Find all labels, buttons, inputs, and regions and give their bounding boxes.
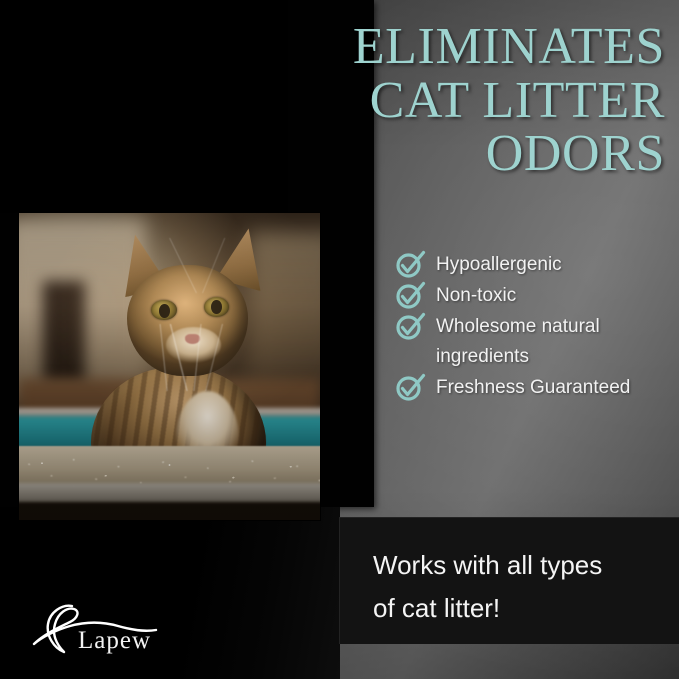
benefits-list: Hypoallergenic Non-toxic Wholesome natur… [392,250,672,404]
list-item-label: Hypoallergenic [436,250,562,280]
photo-color-grade [19,213,320,520]
headline: ELIMINATES CAT LITTER ODORS [245,20,665,181]
brand-logo: Lapew [26,600,186,662]
list-item: Hypoallergenic [392,250,672,280]
check-circle-icon [392,280,436,310]
headline-line-3: ODORS [245,127,665,181]
list-item: Non-toxic [392,281,672,311]
logo-wordmark: Lapew [78,627,151,655]
product-ad-image: ELIMINATES CAT LITTER ODORS [0,0,679,679]
check-circle-icon [392,249,436,279]
kitten-photo [19,213,320,520]
list-item-label: Freshness Guaranteed [436,373,630,403]
tagline-box: Works with all types of cat litter! [339,517,679,644]
check-circle-icon [392,311,436,341]
list-item-label: Wholesome natural ingredients [436,312,600,372]
headline-line-2: CAT LITTER [245,74,665,128]
tagline-text: Works with all types of cat litter! [373,544,663,630]
list-item-label: Non-toxic [436,281,516,311]
list-item: Freshness Guaranteed [392,373,672,403]
list-item: Wholesome natural ingredients [392,312,672,372]
check-circle-icon [392,372,436,402]
headline-line-1: ELIMINATES [245,20,665,74]
